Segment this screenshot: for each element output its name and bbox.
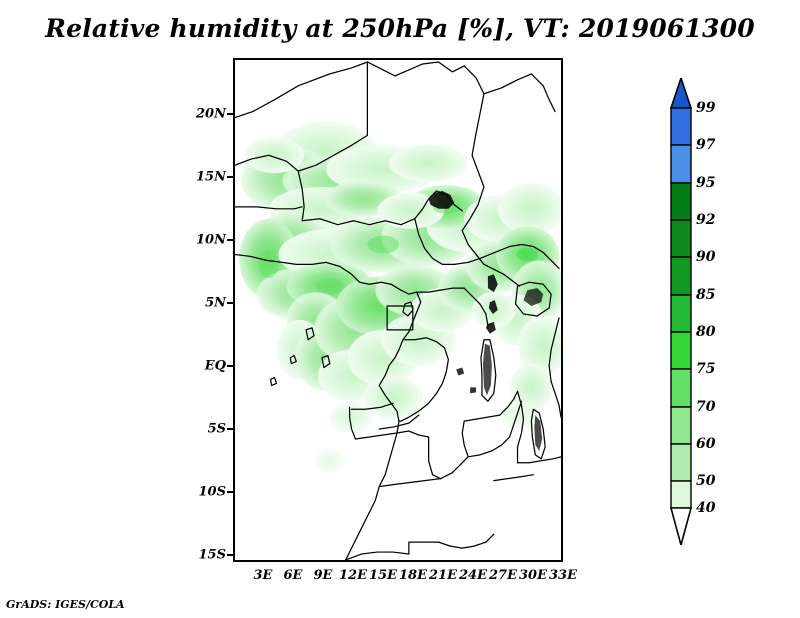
colorbar-label-60: 60 <box>696 436 715 452</box>
colorbar-label-90: 90 <box>696 249 715 265</box>
colorbar-label-80: 80 <box>696 324 715 340</box>
tickmark-20n <box>227 113 233 115</box>
ylabel-5n: 5N <box>205 296 226 311</box>
tickmark-5s <box>227 428 233 430</box>
ylabel-5s: 5S <box>208 422 226 437</box>
xlabel-21e: 21E <box>429 568 457 583</box>
colorbar-label-95: 95 <box>696 175 715 191</box>
rh-shading-layer <box>239 122 561 473</box>
ylabel-15n: 15N <box>196 170 226 185</box>
xlabel-33e: 33E <box>549 568 577 583</box>
colorbar-label-85: 85 <box>696 287 715 303</box>
colorbar-label-99: 99 <box>696 100 715 116</box>
tickmark-15s <box>227 554 233 556</box>
tickmark-15n <box>227 176 233 178</box>
ylabel-15s: 15S <box>199 548 226 563</box>
footer-credit: GrADS: IGES/COLA <box>6 598 125 611</box>
colorbar-label-97: 97 <box>696 137 715 153</box>
map-canvas <box>235 60 561 560</box>
colorbar-label-50: 50 <box>696 473 715 489</box>
ylabel-eq: EQ <box>205 359 226 374</box>
xlabel-12e: 12E <box>339 568 367 583</box>
tickmark-10s <box>227 491 233 493</box>
xlabel-15e: 15E <box>369 568 397 583</box>
xlabel-3e: 3E <box>254 568 273 583</box>
colorbar: 99 97 95 92 90 85 80 75 70 60 50 40 <box>670 78 692 545</box>
xlabel-6e: 6E <box>284 568 303 583</box>
tickmark-5n <box>227 302 233 304</box>
ylabel-10n: 10N <box>196 233 226 248</box>
colorbar-label-70: 70 <box>696 399 715 415</box>
ylabel-20n: 20N <box>196 107 226 122</box>
tickmark-10n <box>227 239 233 241</box>
xlabel-18e: 18E <box>399 568 427 583</box>
colorbar-label-40: 40 <box>696 500 715 516</box>
xlabel-9e: 9E <box>314 568 333 583</box>
page-title: Relative humidity at 250hPa [%], VT: 201… <box>0 14 800 43</box>
tickmark-eq <box>227 365 233 367</box>
colorbar-label-75: 75 <box>696 361 715 377</box>
xlabel-27e: 27E <box>489 568 517 583</box>
map-frame <box>233 58 563 562</box>
map-panel: 20N 15N 10N 5N EQ 5S 10S 15S 3E 6E 9E 12… <box>233 58 563 562</box>
xlabel-30e: 30E <box>519 568 547 583</box>
xlabel-24e: 24E <box>459 568 487 583</box>
ylabel-10s: 10S <box>199 485 226 500</box>
colorbar-label-92: 92 <box>696 212 715 228</box>
colorbar-canvas <box>670 78 692 545</box>
